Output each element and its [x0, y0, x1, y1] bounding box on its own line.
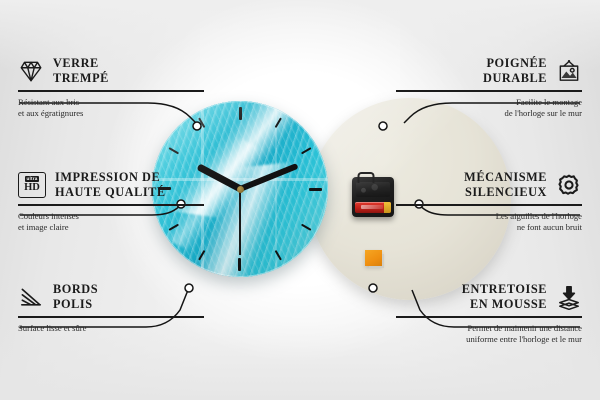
ultra-hd-badge-large-text: HD: [24, 183, 40, 194]
feature-header: MÉCANISMESILENCIEUX: [396, 170, 582, 199]
infographic-canvas: VERRETREMPÉ Résistant aux bris et aux ég…: [0, 0, 600, 400]
feature-divider: [396, 316, 582, 318]
feature-description: Surface lisse et sûre: [18, 323, 204, 334]
feature-title: POIGNÉEDURABLE: [483, 56, 547, 85]
hanging-frame-icon: [556, 58, 582, 84]
diamond-icon: [18, 58, 44, 84]
movement-housing-detail: [356, 182, 390, 197]
feature-mecanisme-silencieux: MÉCANISMESILENCIEUX Les aiguilles de l'h…: [396, 170, 582, 233]
feature-title: MÉCANISMESILENCIEUX: [464, 170, 547, 199]
feature-header: ultra HD IMPRESSION DEHAUTE QUALITÉ: [18, 170, 204, 199]
feature-description: Facilite le montage de l'horloge sur le …: [396, 97, 582, 119]
feature-header: POIGNÉEDURABLE: [396, 56, 582, 85]
ultra-hd-badge-icon: ultra HD: [18, 172, 46, 198]
feature-title: VERRETREMPÉ: [53, 56, 109, 85]
feature-divider: [396, 90, 582, 92]
feature-divider: [18, 90, 204, 92]
feature-divider: [18, 204, 204, 206]
foam-spacer: [365, 250, 382, 266]
feature-description: Permet de maintenir une distance uniform…: [396, 323, 582, 345]
feature-header: BORDSPOLIS: [18, 282, 204, 311]
ultra-hd-badge-small-text: ultra: [25, 176, 40, 182]
feature-title: BORDSPOLIS: [53, 282, 98, 311]
battery-terminal: [384, 202, 391, 213]
feature-description: Résistant aux bris et aux égratignures: [18, 97, 204, 119]
polished-edges-icon: [18, 284, 44, 310]
feature-verre-trempe: VERRETREMPÉ Résistant aux bris et aux ég…: [18, 56, 204, 119]
feature-impression-haute-qualite: ultra HD IMPRESSION DEHAUTE QUALITÉ Coul…: [18, 170, 204, 233]
feature-header: VERRETREMPÉ: [18, 56, 204, 85]
foam-spacer-icon: [556, 284, 582, 310]
battery: [355, 202, 391, 213]
feature-divider: [396, 204, 582, 206]
feature-title: ENTRETOISEEN MOUSSE: [462, 282, 547, 311]
feature-poignee-durable: POIGNÉEDURABLE Facilite le montage de l'…: [396, 56, 582, 119]
movement-hanger: [358, 172, 375, 183]
feature-bords-polis: BORDSPOLIS Surface lisse et sûre: [18, 282, 204, 334]
quartz-movement: [352, 177, 394, 217]
gear-icon: [556, 172, 582, 198]
feature-description: Les aiguilles de l'horloge ne font aucun…: [396, 211, 582, 233]
feature-entretoise-en-mousse: ENTRETOISEEN MOUSSE Permet de maintenir …: [396, 282, 582, 345]
feature-title: IMPRESSION DEHAUTE QUALITÉ: [55, 170, 166, 199]
feature-description: Couleurs intenses et image claire: [18, 211, 204, 233]
feature-header: ENTRETOISEEN MOUSSE: [396, 282, 582, 311]
feature-divider: [18, 316, 204, 318]
battery-label: [361, 205, 383, 209]
